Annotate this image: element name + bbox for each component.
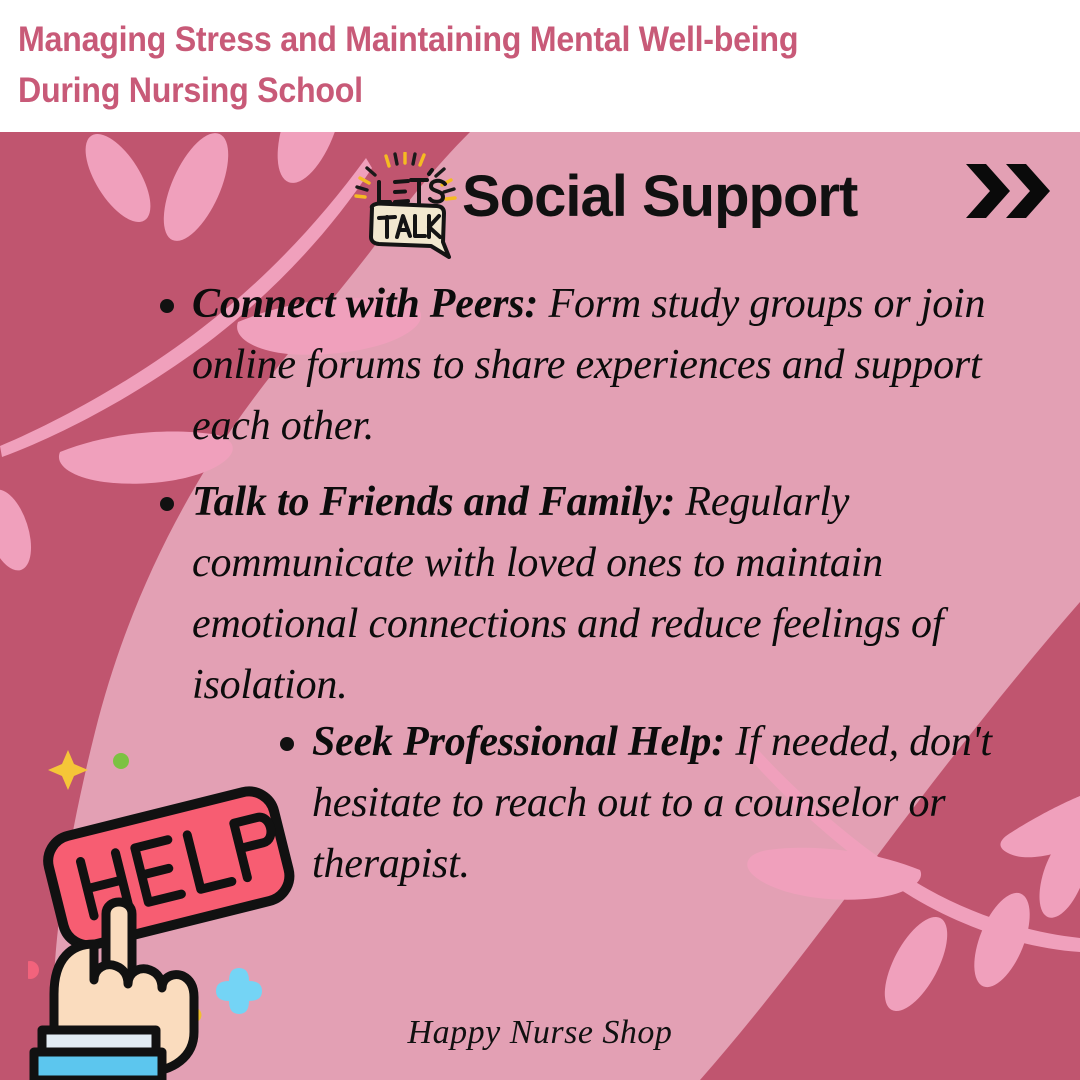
list-item: Talk to Friends and Family: Regularly co…: [160, 472, 1030, 716]
help-button[interactable]: [43, 786, 295, 951]
list-item: Connect with Peers: Form study groups or…: [160, 274, 1065, 457]
sparkle-dot-green-icon: [113, 753, 129, 769]
brand-name: Happy Nurse Shop: [408, 1014, 673, 1051]
bullet-dot-icon: [160, 497, 174, 511]
poster-body: Social Support Connect with Peers: Form …: [0, 132, 1080, 1080]
cuff-sleeve: [34, 1052, 162, 1080]
sparkle-dot-pink-icon: [28, 961, 39, 979]
bullet-lead: Seek Professional Help:: [312, 719, 725, 765]
sparkle-cross-blue-icon: [216, 968, 262, 1014]
bullet-dot-icon: [160, 299, 174, 313]
header-band: Managing Stress and Maintaining Mental W…: [0, 0, 1080, 132]
poster-canvas: Managing Stress and Maintaining Mental W…: [0, 0, 1080, 1080]
bullet-lead: Talk to Friends and Family:: [192, 479, 675, 525]
bullet-paragraph: Talk to Friends and Family: Regularly co…: [192, 472, 1030, 716]
bullet-lead: Connect with Peers:: [192, 281, 538, 327]
list-item: Seek Professional Help: If needed, don't…: [280, 712, 1020, 895]
bullet-paragraph: Seek Professional Help: If needed, don't…: [312, 712, 1020, 895]
footer: Happy Nurse Shop: [0, 1014, 1080, 1052]
sparkle-star-yellow-icon: [48, 750, 88, 790]
bullet-paragraph: Connect with Peers: Form study groups or…: [192, 274, 1065, 457]
page-title: Managing Stress and Maintaining Mental W…: [18, 14, 978, 116]
